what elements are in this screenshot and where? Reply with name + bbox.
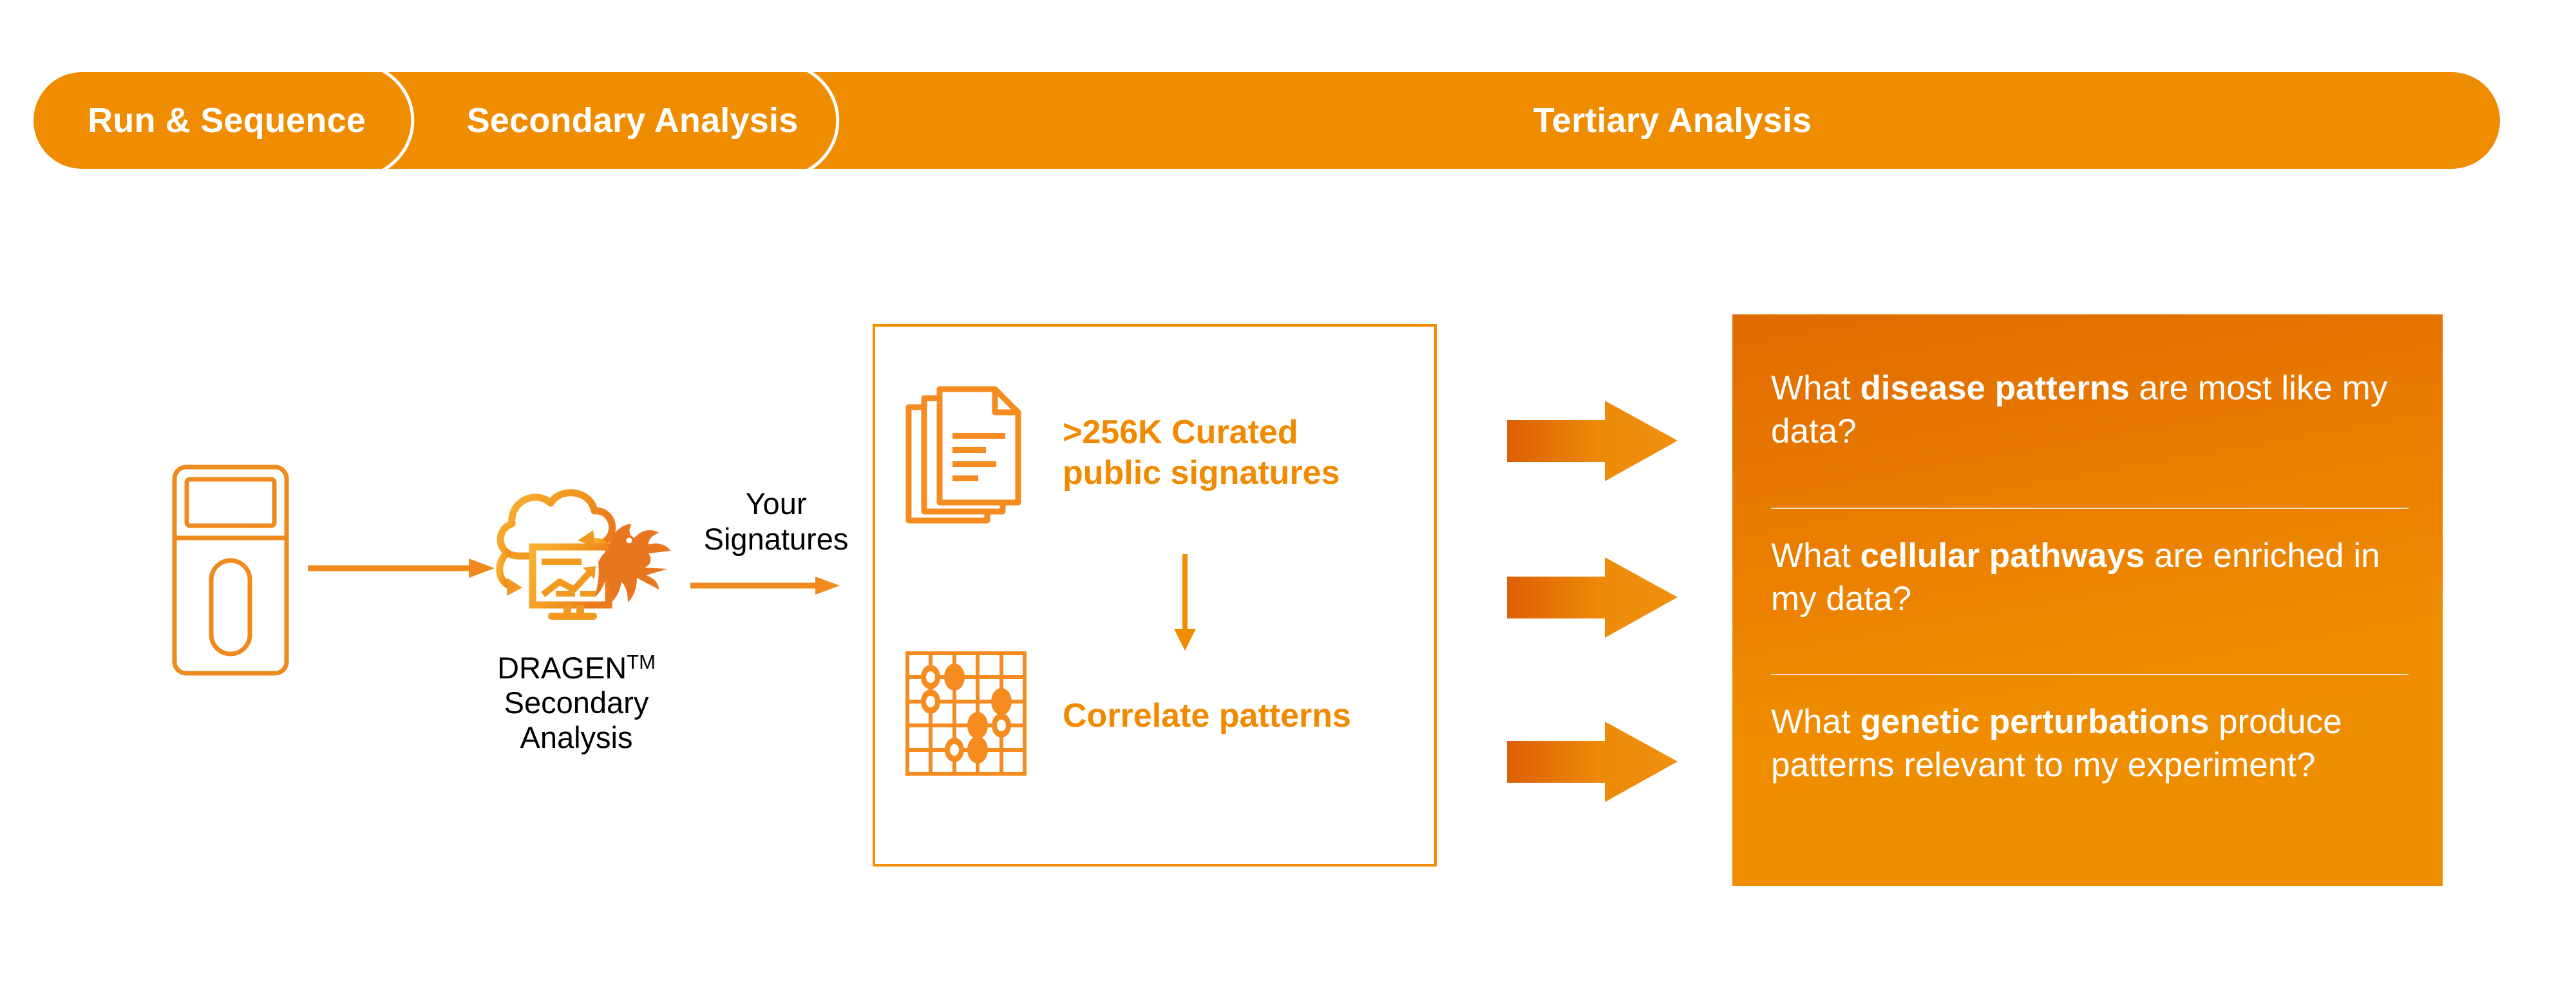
block-arrow-right-icon bbox=[1507, 557, 1678, 638]
arrow-sequencer-to-dragen bbox=[308, 555, 495, 581]
arrow-right-glyph bbox=[690, 575, 840, 597]
question-disease-patterns: What disease patterns are most like my d… bbox=[1771, 367, 2415, 454]
dragen-caption: DRAGENTM Secondary Analysis bbox=[467, 651, 686, 755]
banner-segment-run-and-sequence[interactable]: Run & Sequence bbox=[33, 72, 420, 169]
block-arrow-glyph-1 bbox=[1507, 401, 1678, 481]
question-1-prefix: What bbox=[1771, 537, 1860, 575]
question-1-emphasis: cellular pathways bbox=[1860, 537, 2145, 575]
curated-line1: >256K Curated bbox=[1063, 414, 1298, 451]
dragen-glyph bbox=[480, 480, 673, 644]
dragen-name: DRAGEN bbox=[497, 651, 627, 685]
correlate-patterns-label: Correlate patterns bbox=[1063, 696, 1404, 736]
question-cellular-pathways: What cellular pathways are enriched in m… bbox=[1771, 535, 2415, 621]
dragen-cloud-dragon-icon bbox=[480, 480, 673, 644]
question-2-prefix: What bbox=[1771, 703, 1860, 741]
sequencer-glyph bbox=[171, 464, 290, 676]
question-0-prefix: What bbox=[1771, 369, 1860, 407]
question-2-emphasis: genetic perturbations bbox=[1860, 703, 2209, 741]
arrow-right-icon bbox=[308, 555, 495, 581]
block-arrow-glyph-2 bbox=[1507, 557, 1678, 638]
your-signatures-connector: Your Signatures bbox=[683, 486, 869, 609]
curated-line2: public signatures bbox=[1063, 454, 1340, 492]
arrow-right-icon bbox=[690, 575, 840, 597]
banner-segment-secondary-analysis[interactable]: Secondary Analysis bbox=[420, 72, 845, 169]
block-arrow-right-icon bbox=[1507, 401, 1678, 481]
dragen-caption-line2: Secondary bbox=[504, 685, 649, 720]
sequencer-instrument-icon bbox=[171, 464, 290, 676]
banner-segment-tertiary-analysis[interactable]: Tertiary Analysis bbox=[845, 72, 2500, 169]
question-divider bbox=[1771, 674, 2409, 675]
tertiary-questions-panel: What disease patterns are most like my d… bbox=[1732, 314, 2443, 886]
dragen-secondary-analysis-block: DRAGENTM Secondary Analysis bbox=[480, 480, 673, 789]
curated-signatures-label: >256K Curated public signatures bbox=[1063, 412, 1385, 494]
correlation-matrix-icon bbox=[905, 651, 1027, 776]
question-0-emphasis: disease patterns bbox=[1860, 369, 2129, 407]
your-signatures-line2: Signatures bbox=[704, 522, 849, 556]
dragen-trademark: TM bbox=[627, 651, 656, 673]
dragen-caption-line3: Analysis bbox=[520, 720, 632, 754]
block-arrow-glyph-3 bbox=[1507, 722, 1678, 802]
arrow-down-icon bbox=[1166, 554, 1204, 651]
stacked-documents-icon bbox=[905, 383, 1034, 524]
documents-glyph bbox=[905, 383, 1034, 524]
matrix-glyph bbox=[905, 651, 1027, 776]
block-arrow-right-icon bbox=[1507, 722, 1678, 802]
your-signatures-line1: Your bbox=[746, 486, 807, 521]
arrow-down-glyph bbox=[1166, 554, 1204, 651]
workflow-stage-banner: Run & Sequence Secondary Analysis Tertia… bbox=[33, 72, 2500, 169]
question-divider bbox=[1771, 508, 2409, 509]
your-signatures-label: Your Signatures bbox=[683, 486, 869, 557]
question-genetic-perturbations: What genetic perturbations produce patte… bbox=[1771, 701, 2415, 787]
